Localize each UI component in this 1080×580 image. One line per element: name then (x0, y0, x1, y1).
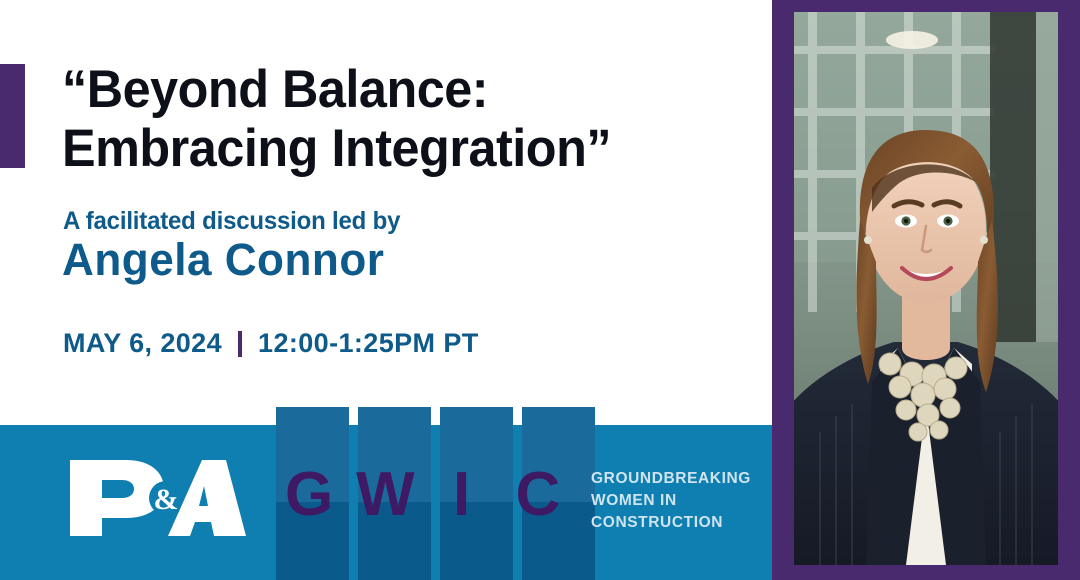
gwic-tagline-line-3: CONSTRUCTION (591, 512, 751, 534)
gwic-letter-c: C (500, 464, 576, 526)
speaker-name: Angela Connor (62, 234, 384, 286)
gwic-tagline-line-2: WOMEN IN (591, 490, 751, 512)
speaker-headshot (794, 12, 1058, 565)
datetime-divider (238, 331, 242, 357)
event-time: 12:00-1:25PM PT (258, 328, 479, 359)
event-date: MAY 6, 2024 (63, 328, 222, 359)
gwic-letter-g: G (271, 464, 347, 526)
pa-logo-mark: & (68, 458, 248, 538)
gwic-letter-w: W (347, 464, 423, 526)
gwic-tagline: GROUNDBREAKING WOMEN IN CONSTRUCTION (591, 468, 751, 534)
title-line-1: “Beyond Balance: (62, 60, 727, 119)
gwic-tagline-line-1: GROUNDBREAKING (591, 468, 751, 490)
title-line-2: Embracing Integration” (62, 119, 727, 178)
pa-logo: & (68, 458, 248, 538)
event-datetime: MAY 6, 2024 12:00-1:25PM PT (63, 328, 479, 359)
page-title: “Beyond Balance: Embracing Integration” (62, 60, 727, 179)
speaker-lead-in: A facilitated discussion led by (63, 207, 400, 236)
gwic-letter-i: I (424, 464, 500, 526)
purple-accent-bar (0, 64, 25, 168)
speaker-photo-frame (794, 12, 1058, 565)
gwic-wordmark: G W I C (276, 455, 576, 535)
pa-ampersand: & (154, 483, 179, 516)
promo-graphic: “Beyond Balance: Embracing Integration” … (0, 0, 1080, 580)
